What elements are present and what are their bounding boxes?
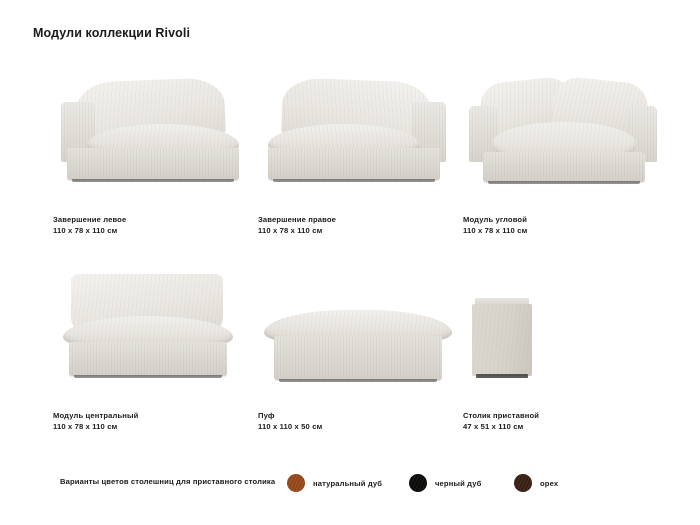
legend-option-walnut[interactable]: орех	[514, 471, 558, 495]
color-swatch-icon[interactable]	[409, 474, 427, 492]
side-table-body	[472, 304, 532, 376]
legend-label: Варианты цветов столешниц для приставног…	[60, 477, 275, 486]
modules-grid: Завершение левое 110 x 78 x 110 см	[0, 62, 700, 454]
sofa-left-arm-module-figure	[53, 62, 253, 190]
swatch-label: натуральный дуб	[313, 479, 382, 488]
module-card-center[interactable]: Модуль центральный 110 x 78 x 110 см	[53, 258, 258, 454]
color-swatch-icon[interactable]	[514, 474, 532, 492]
module-caption: Столик приставной 47 x 51 x 110 см	[463, 410, 663, 432]
legend-option-black-oak[interactable]: черный дуб	[409, 471, 481, 495]
module-card-side-table[interactable]: Столик приставной 47 x 51 x 110 см	[463, 258, 668, 454]
swatch-label: орех	[540, 479, 558, 488]
tabletop-color-legend: Варианты цветов столешниц для приставног…	[0, 471, 700, 495]
module-card-right-end[interactable]: Завершение правое 110 x 78 x 110 см	[258, 62, 463, 258]
sofa-right-arm-module-figure	[258, 62, 458, 190]
side-table-figure	[463, 258, 663, 386]
page-title: Модули коллекции Rivoli	[33, 26, 190, 40]
module-dimensions: 110 x 78 x 110 см	[53, 225, 253, 236]
sofa-corner-module-figure	[463, 62, 663, 190]
module-card-pouf[interactable]: Пуф 110 x 110 x 50 см	[258, 258, 463, 454]
module-caption: Завершение правое 110 x 78 x 110 см	[258, 214, 458, 236]
module-name: Завершение левое	[53, 214, 253, 225]
pouf-figure	[258, 258, 458, 386]
modules-row-1: Завершение левое 110 x 78 x 110 см	[0, 62, 700, 258]
module-name: Столик приставной	[463, 410, 663, 421]
module-caption: Пуф 110 x 110 x 50 см	[258, 410, 458, 432]
color-swatch-icon[interactable]	[287, 474, 305, 492]
module-caption: Модуль центральный 110 x 78 x 110 см	[53, 410, 253, 432]
module-card-corner[interactable]: Модуль угловой 110 x 78 x 110 см	[463, 62, 668, 258]
module-card-left-end[interactable]: Завершение левое 110 x 78 x 110 см	[53, 62, 258, 258]
module-caption: Модуль угловой 110 x 78 x 110 см	[463, 214, 663, 236]
module-dimensions: 110 x 78 x 110 см	[463, 225, 663, 236]
module-name: Модуль центральный	[53, 410, 253, 421]
module-dimensions: 110 x 78 x 110 см	[258, 225, 458, 236]
modules-row-2: Модуль центральный 110 x 78 x 110 см	[0, 258, 700, 454]
module-name: Пуф	[258, 410, 458, 421]
side-table-base-shadow	[476, 374, 528, 378]
module-name: Модуль угловой	[463, 214, 663, 225]
module-caption: Завершение левое 110 x 78 x 110 см	[53, 214, 253, 236]
module-dimensions: 110 x 78 x 110 см	[53, 421, 253, 432]
sofa-center-module-figure	[53, 258, 253, 386]
module-dimensions: 110 x 110 x 50 см	[258, 421, 458, 432]
module-name: Завершение правое	[258, 214, 458, 225]
legend-option-natural-oak[interactable]: натуральный дуб	[287, 471, 382, 495]
module-dimensions: 47 x 51 x 110 см	[463, 421, 663, 432]
swatch-label: черный дуб	[435, 479, 481, 488]
